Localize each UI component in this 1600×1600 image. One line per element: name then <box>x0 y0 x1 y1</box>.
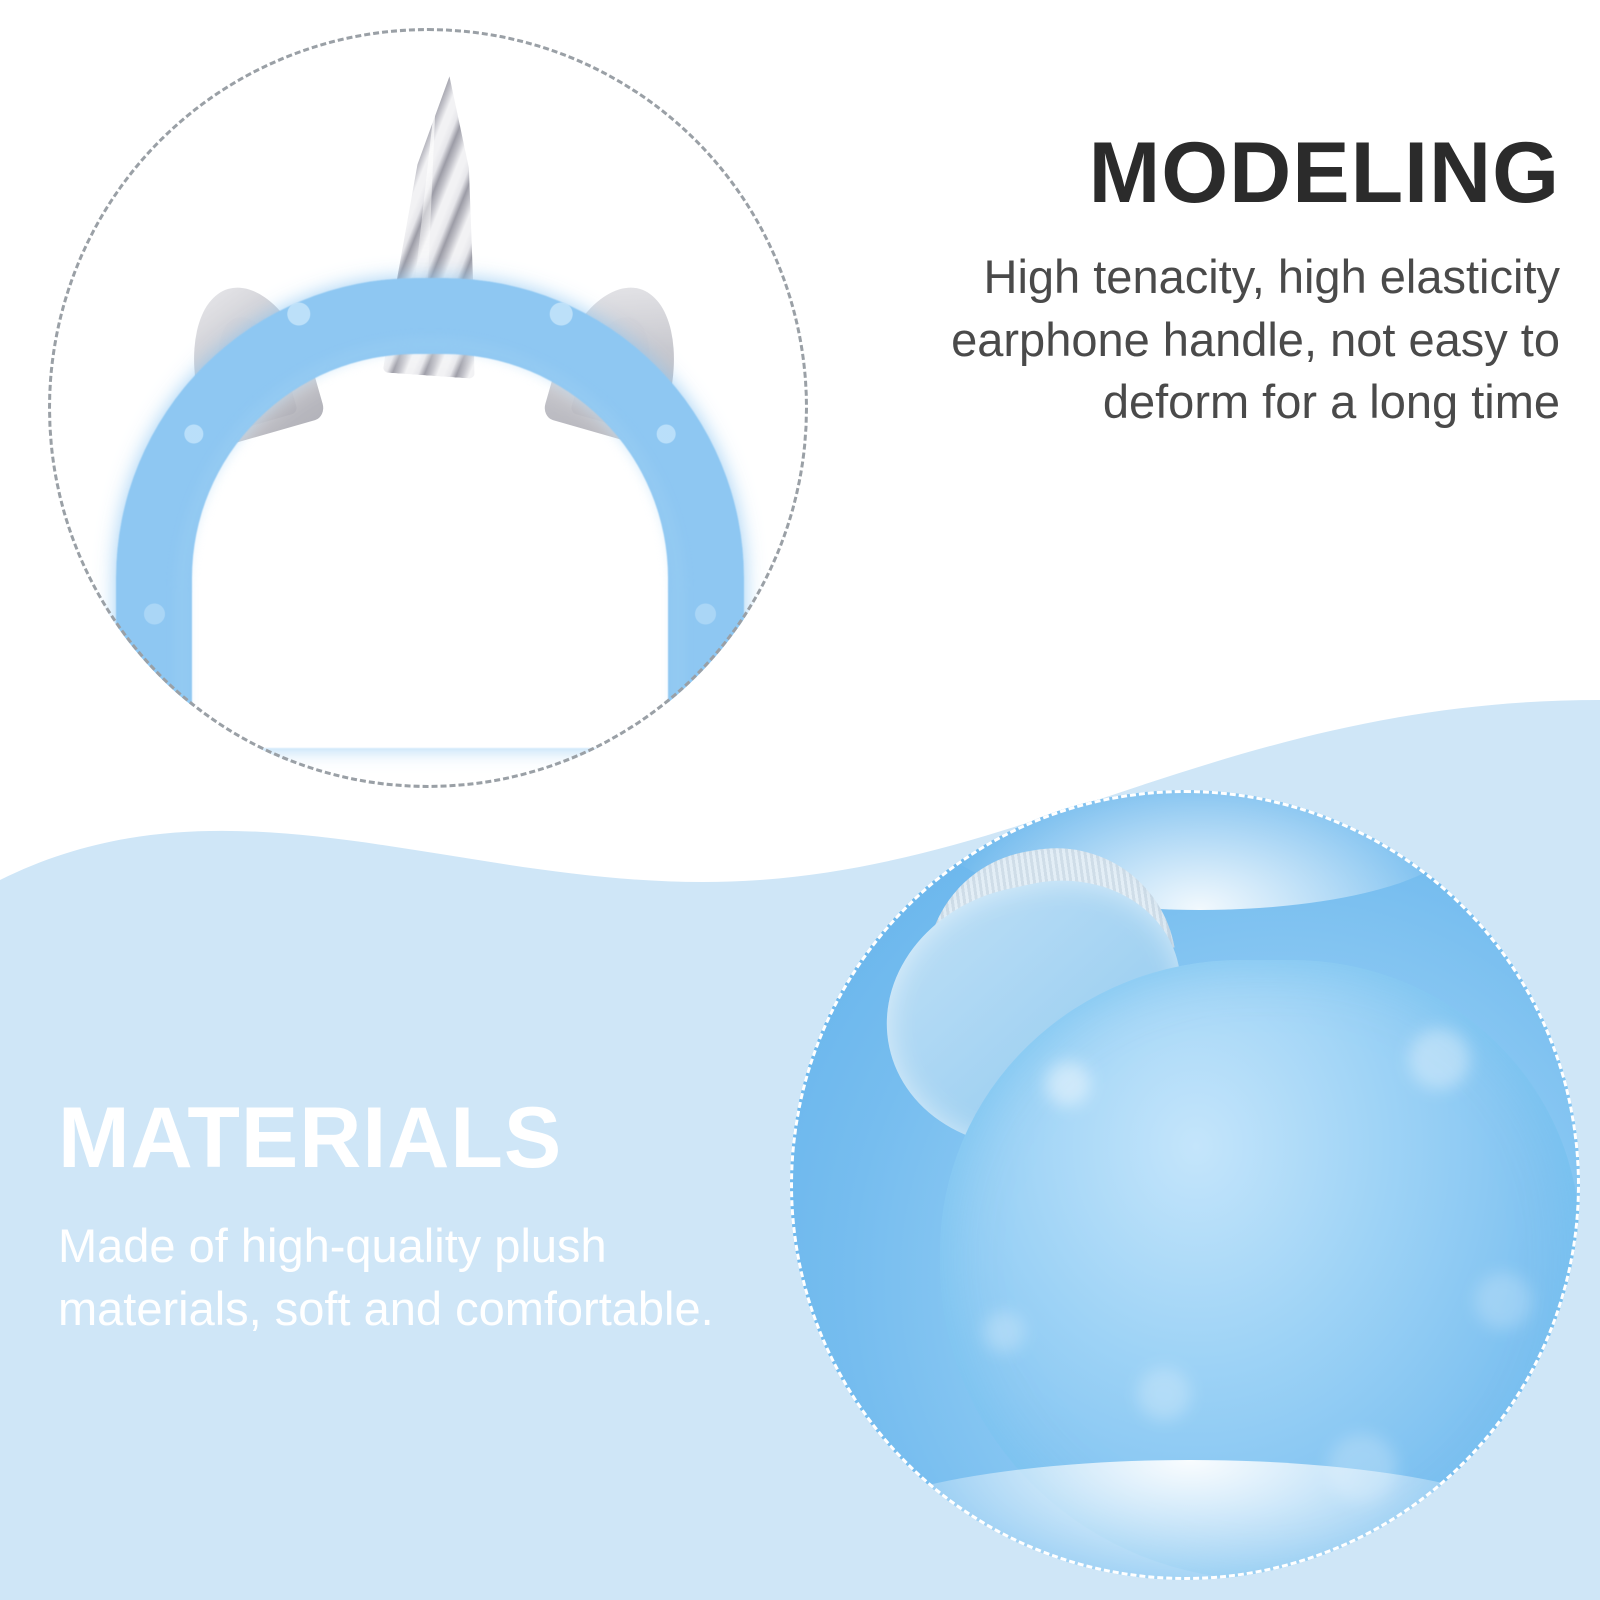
product-image-earmuff-closeup <box>790 790 1580 1580</box>
infographic-page: MODELING High tenacity, high elasticity … <box>0 0 1600 1600</box>
materials-section: MATERIALS Made of high-quality plush mat… <box>58 1095 778 1340</box>
modeling-section: MODELING High tenacity, high elasticity … <box>880 130 1560 434</box>
modeling-title: MODELING <box>880 130 1560 216</box>
materials-description: Made of high-quality plush materials, so… <box>58 1215 778 1340</box>
materials-title: MATERIALS <box>58 1095 778 1181</box>
product-image-headband <box>48 28 808 788</box>
modeling-description: High tenacity, high elasticity earphone … <box>880 246 1560 434</box>
headband-illustration <box>48 28 808 788</box>
